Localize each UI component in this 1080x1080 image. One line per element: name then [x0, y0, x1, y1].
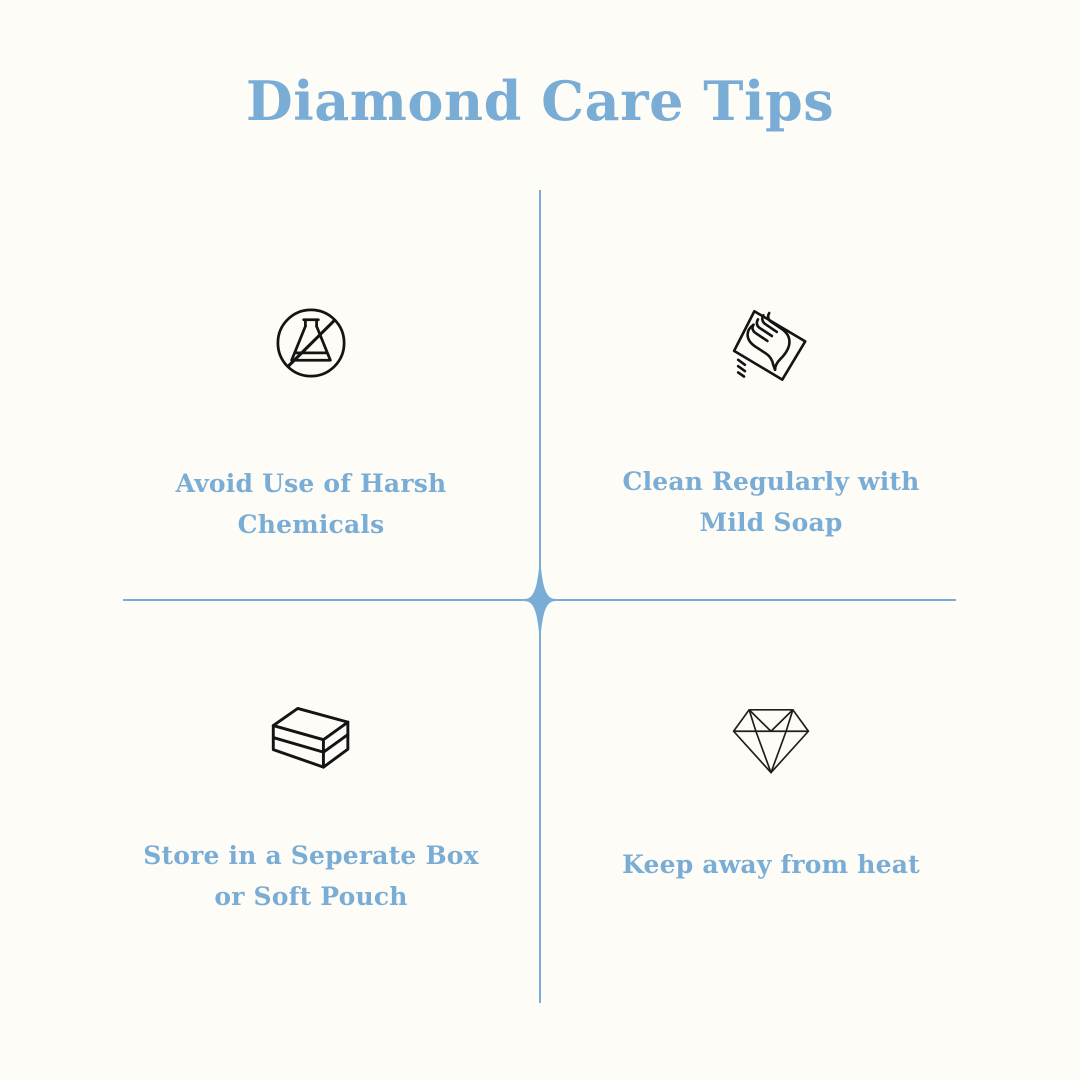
hand-wiping-cloth-icon — [726, 300, 816, 390]
tip-label: Store in a Seperate Box or Soft Pouch — [143, 836, 479, 917]
diamond-gem-icon — [731, 705, 811, 775]
tip-label: Keep away from heat — [622, 845, 920, 886]
no-chemicals-icon — [268, 300, 354, 386]
page-title: Diamond Care Tips — [0, 70, 1080, 132]
tip-card-clean-regularly: Clean Regularly with Mild Soap — [601, 300, 941, 543]
storage-box-icon — [268, 702, 354, 774]
tip-card-keep-away-from-heat: Keep away from heat — [601, 705, 941, 886]
tip-label: Avoid Use of Harsh Chemicals — [176, 464, 447, 545]
four-point-sparkle-icon — [495, 555, 585, 645]
tip-card-store-separately: Store in a Seperate Box or Soft Pouch — [141, 702, 481, 917]
tip-label: Clean Regularly with Mild Soap — [622, 462, 919, 543]
infographic-canvas: Diamond Care Tips — [0, 0, 1080, 1080]
tip-card-avoid-harsh-chemicals: Avoid Use of Harsh Chemicals — [141, 300, 481, 545]
